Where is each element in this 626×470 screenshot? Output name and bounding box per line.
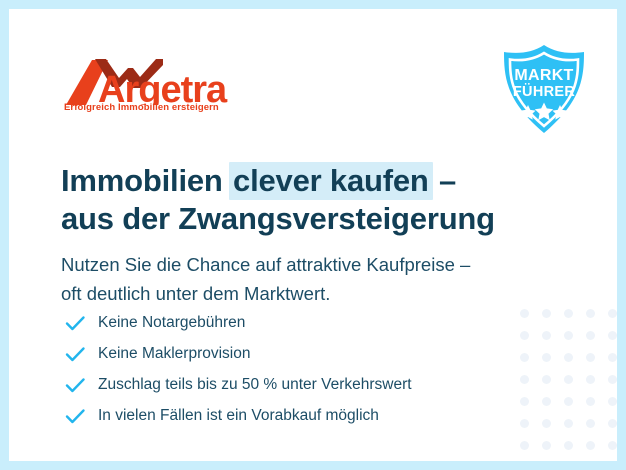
grid-dot	[564, 309, 573, 318]
benefit-item: In vielen Fällen ist ein Vorabkauf mögli…	[64, 400, 524, 431]
argetra-logo-icon: Argetra	[62, 55, 262, 105]
argetra-logo[interactable]: Argetra Erfolgreich Immobilien ersteiger…	[62, 55, 292, 121]
benefit-label: Zuschlag teils bis zu 50 % unter Verkehr…	[98, 375, 412, 395]
grid-dot	[608, 331, 617, 340]
grid-dot	[586, 309, 595, 318]
grid-dot	[542, 375, 551, 384]
benefit-item: Zuschlag teils bis zu 50 % unter Verkehr…	[64, 369, 524, 400]
dot-grid-decoration	[520, 309, 617, 461]
check-icon	[64, 405, 86, 427]
grid-dot	[586, 353, 595, 362]
badge-line1: MARKT	[514, 67, 573, 84]
benefit-item: Keine Maklerprovision	[64, 338, 524, 369]
promo-banner: Argetra Erfolgreich Immobilien ersteiger…	[0, 0, 626, 470]
grid-dot	[586, 331, 595, 340]
grid-dot	[564, 441, 573, 450]
headline-part2: –	[431, 163, 456, 198]
grid-dot	[608, 397, 617, 406]
grid-dot	[586, 419, 595, 428]
grid-dot	[586, 441, 595, 450]
logo-tagline: Erfolgreich Immobilien ersteigern	[64, 102, 219, 113]
grid-dot	[608, 375, 617, 384]
grid-dot	[608, 419, 617, 428]
check-icon	[64, 374, 86, 396]
grid-dot	[564, 331, 573, 340]
check-icon	[64, 312, 86, 334]
headline: Immobilien clever kaufen – aus der Zwang…	[61, 162, 531, 238]
grid-dot	[542, 397, 551, 406]
benefit-label: In vielen Fällen ist ein Vorabkauf mögli…	[98, 406, 379, 426]
grid-dot	[520, 441, 529, 450]
grid-dot	[564, 375, 573, 384]
subheadline: Nutzen Sie die Chance auf attraktive Kau…	[61, 250, 561, 308]
grid-dot	[608, 353, 617, 362]
headline-line2: aus der Zwangsversteigerung	[61, 201, 495, 236]
grid-dot	[542, 441, 551, 450]
grid-dot	[564, 397, 573, 406]
grid-dot	[542, 353, 551, 362]
subheadline-line2: oft deutlich unter dem Marktwert.	[61, 279, 561, 308]
grid-dot	[586, 397, 595, 406]
badge-line2: FÜHRER	[513, 83, 575, 100]
svg-text:Argetra: Argetra	[98, 69, 228, 105]
benefit-label: Keine Notargebühren	[98, 313, 245, 333]
grid-dot	[542, 331, 551, 340]
headline-part1: Immobilien	[61, 163, 231, 198]
check-icon	[64, 343, 86, 365]
headline-highlight: clever kaufen	[229, 162, 433, 200]
markt-fuehrer-badge: MARKT FÜHRER	[498, 43, 590, 135]
subheadline-line1: Nutzen Sie die Chance auf attraktive Kau…	[61, 250, 561, 279]
grid-dot	[564, 419, 573, 428]
grid-dot	[542, 419, 551, 428]
benefits-list: Keine NotargebührenKeine Maklerprovision…	[64, 307, 524, 431]
grid-dot	[564, 353, 573, 362]
shield-icon: MARKT FÜHRER	[498, 43, 590, 135]
banner-card: Argetra Erfolgreich Immobilien ersteiger…	[9, 9, 617, 461]
benefit-item: Keine Notargebühren	[64, 307, 524, 338]
grid-dot	[608, 309, 617, 318]
grid-dot	[608, 441, 617, 450]
grid-dot	[542, 309, 551, 318]
grid-dot	[586, 375, 595, 384]
benefit-label: Keine Maklerprovision	[98, 344, 251, 364]
